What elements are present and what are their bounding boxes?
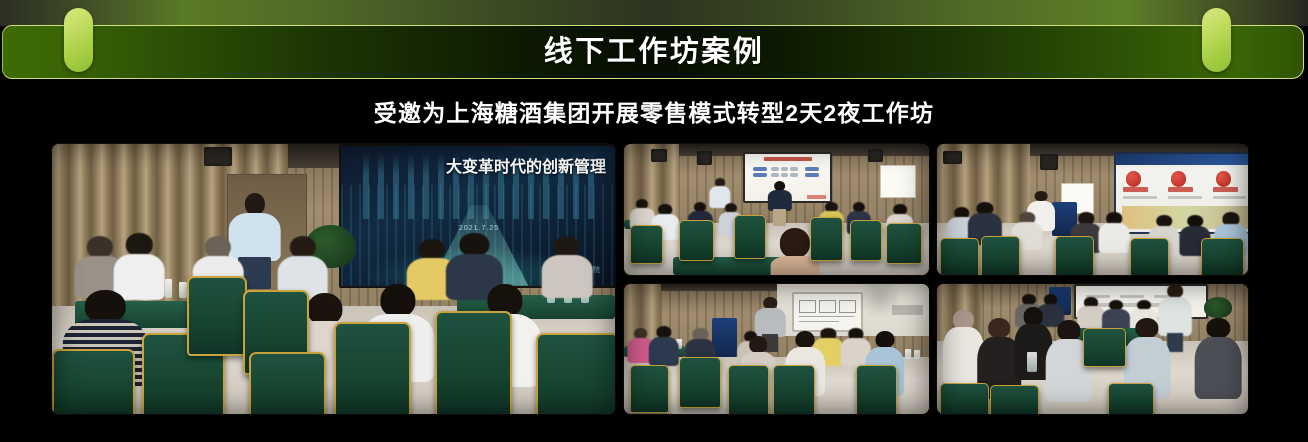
slide-chip xyxy=(790,167,798,171)
slide-header: 线下工作坊案例 xyxy=(0,0,1308,84)
audience-member xyxy=(114,233,165,298)
photo-gallery: 大变革时代的创新管理 2021.7.25 数智研究院 xyxy=(52,144,1248,414)
slide-chip xyxy=(790,173,798,177)
audience-head xyxy=(1207,318,1230,338)
audience-head xyxy=(87,236,113,259)
ceiling-speaker xyxy=(1040,154,1059,170)
conference-chair xyxy=(630,225,663,264)
conference-chair xyxy=(850,220,883,261)
audience-member xyxy=(542,236,593,295)
photo-top-right-scene xyxy=(937,144,1248,275)
audience-head xyxy=(875,331,894,348)
conference-chair xyxy=(679,357,721,408)
audience-head xyxy=(307,293,342,325)
audience-head xyxy=(1135,318,1158,338)
conference-chair xyxy=(630,365,669,414)
audience-body xyxy=(1195,337,1242,399)
ceiling-speaker xyxy=(868,149,883,162)
conference-chair xyxy=(1083,328,1125,366)
slide-chip xyxy=(781,167,789,171)
conference-chair xyxy=(856,365,898,414)
slide-footer-mark xyxy=(807,195,826,198)
conference-chair xyxy=(773,365,815,414)
whiteboard-line xyxy=(799,321,839,323)
slide-body-2 xyxy=(1168,196,1202,199)
slide-chip xyxy=(805,167,819,171)
flipchart-board xyxy=(880,165,916,198)
conference-chair xyxy=(1055,236,1094,275)
screen-date-text: 2021.7.25 xyxy=(341,225,615,232)
conference-chair xyxy=(734,215,767,259)
header-top-strip xyxy=(0,0,1308,26)
conference-chair xyxy=(728,365,770,414)
audience-head xyxy=(796,331,815,348)
audience-head xyxy=(85,290,126,323)
conference-chair xyxy=(1130,238,1169,275)
slide-chip xyxy=(753,173,767,177)
whiteboard-line xyxy=(799,316,854,318)
slide-heading-3 xyxy=(1213,187,1238,192)
photo-bottom-right-scene xyxy=(937,284,1248,414)
water-bottle xyxy=(905,349,911,359)
slide-red-heading xyxy=(764,157,812,161)
gallery-photo-top-right xyxy=(937,144,1248,275)
conference-chair xyxy=(1108,383,1154,414)
slide-icon-circle-3 xyxy=(1216,171,1231,186)
conference-chair xyxy=(249,352,326,414)
lectern-podium xyxy=(712,318,736,357)
audience-member xyxy=(1099,212,1130,251)
slide-root: 线下工作坊案例 受邀为上海糖酒集团开展零售模式转型2天2夜工作坊 大变革时代的创… xyxy=(0,0,1308,442)
audience-head xyxy=(749,336,767,353)
slide-chip xyxy=(771,173,779,177)
whiteboard-box xyxy=(819,300,836,313)
slide-icon-circle-2 xyxy=(1171,171,1186,186)
slide-chip xyxy=(805,173,819,177)
audience-head xyxy=(780,228,810,258)
slide-heading-1 xyxy=(1123,187,1148,192)
audience-head xyxy=(953,310,973,329)
audience-head xyxy=(1058,320,1081,340)
slide-flow-diagram xyxy=(753,166,821,180)
ceiling-speaker xyxy=(651,149,666,162)
water-bottle xyxy=(914,350,920,359)
slide-chip xyxy=(771,167,779,171)
gallery-photo-main: 大变革时代的创新管理 2021.7.25 数智研究院 xyxy=(52,144,615,414)
conference-chair xyxy=(187,276,247,356)
slide-caption-block xyxy=(892,305,923,315)
water-bottle xyxy=(1027,352,1036,373)
conference-chair xyxy=(981,236,1020,275)
slide-chip xyxy=(753,167,767,171)
conference-chair xyxy=(435,311,512,414)
conference-chair xyxy=(990,385,1039,414)
conference-chair xyxy=(679,220,715,261)
audience-member-foreground xyxy=(1195,318,1242,396)
conference-chair xyxy=(536,333,615,414)
whiteboard-box xyxy=(839,300,856,313)
conference-chair xyxy=(810,217,843,261)
conference-chair xyxy=(1201,238,1243,275)
photo-bottom-middle-scene xyxy=(624,284,929,414)
conference-chair xyxy=(886,223,922,264)
slide-body-line xyxy=(1120,295,1144,299)
audience-body xyxy=(648,337,679,367)
audience-trousers xyxy=(773,209,787,226)
audience-head xyxy=(381,284,416,317)
audience-head xyxy=(1024,307,1043,325)
audience-body xyxy=(767,190,791,210)
presenter-head xyxy=(245,193,265,216)
gallery-photo-bottom-middle xyxy=(624,284,929,414)
whiteboard xyxy=(792,292,863,332)
photo-top-middle-scene xyxy=(624,144,929,275)
photo-main-scene: 大变革时代的创新管理 2021.7.25 数智研究院 xyxy=(52,144,615,414)
audience-member xyxy=(277,236,328,298)
slide-icon-circle-1 xyxy=(1126,171,1141,186)
page-subtitle: 受邀为上海糖酒集团开展零售模式转型2天2夜工作坊 xyxy=(0,98,1308,128)
conference-chair xyxy=(940,238,979,275)
ceiling-speaker xyxy=(697,151,712,165)
gallery-photo-top-middle xyxy=(624,144,929,275)
screen-title-text: 大变革时代的创新管理 xyxy=(352,153,606,177)
ceiling-speaker xyxy=(204,147,232,166)
water-bottle xyxy=(165,279,173,298)
slide-body-1 xyxy=(1123,196,1157,199)
slide-heading-2 xyxy=(1168,187,1193,192)
decorative-plant xyxy=(1204,297,1232,318)
gallery-photo-bottom-right xyxy=(937,284,1248,414)
conference-chair xyxy=(52,349,135,414)
whiteboard-box xyxy=(799,300,816,313)
audience-body xyxy=(542,255,593,298)
water-bottle xyxy=(179,282,187,298)
slide-title-bar xyxy=(1116,154,1248,165)
page-title: 线下工作坊案例 xyxy=(0,30,1308,74)
conference-chair xyxy=(940,383,989,414)
audience-member xyxy=(767,181,791,226)
audience-body xyxy=(1099,223,1130,253)
audience-member xyxy=(648,326,679,365)
ceiling-speaker xyxy=(943,151,962,164)
slide-chip xyxy=(781,173,789,177)
slide-body-3 xyxy=(1213,196,1247,199)
conference-chair xyxy=(334,322,411,414)
audience-head xyxy=(988,318,1010,338)
